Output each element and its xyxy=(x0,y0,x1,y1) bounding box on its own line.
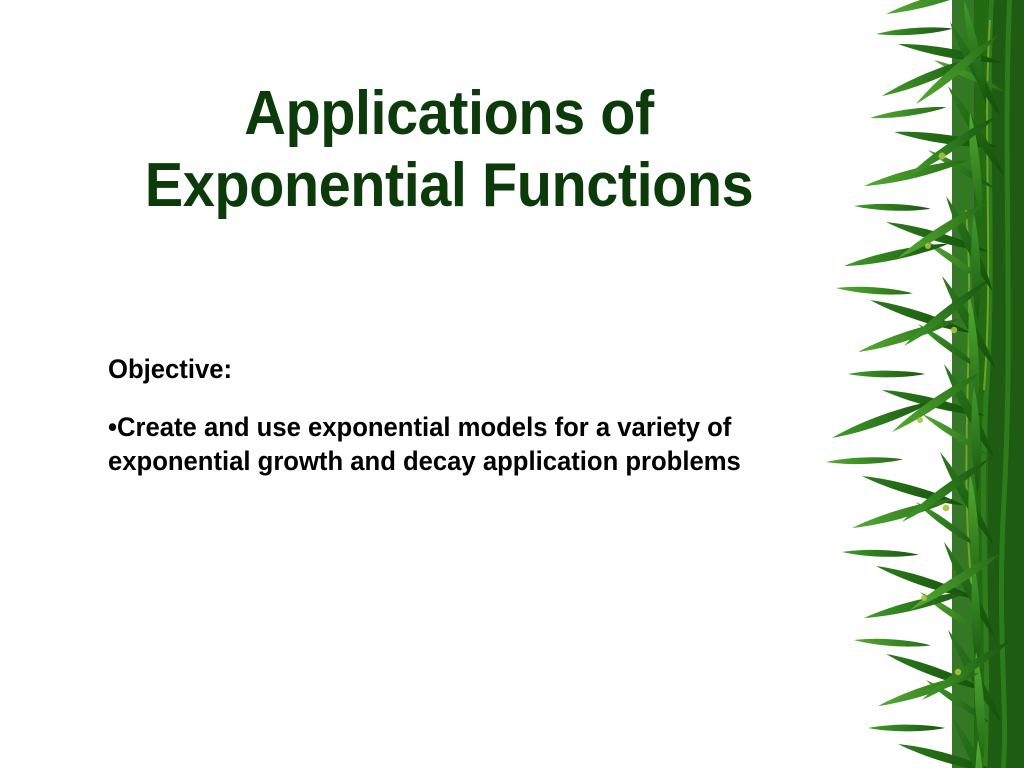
objective-label: Objective: xyxy=(108,352,764,386)
presentation-slide: Applications of Exponential Functions Ob… xyxy=(0,0,1024,768)
slide-body: Objective: •Create and use exponential m… xyxy=(108,352,798,478)
slide-title: Applications of Exponential Functions xyxy=(0,78,898,222)
slide-title-line-2: Exponential Functions xyxy=(31,150,866,222)
slide-title-line-1: Applications of xyxy=(31,78,866,150)
objective-bullet-item: •Create and use exponential models for a… xyxy=(108,410,773,478)
